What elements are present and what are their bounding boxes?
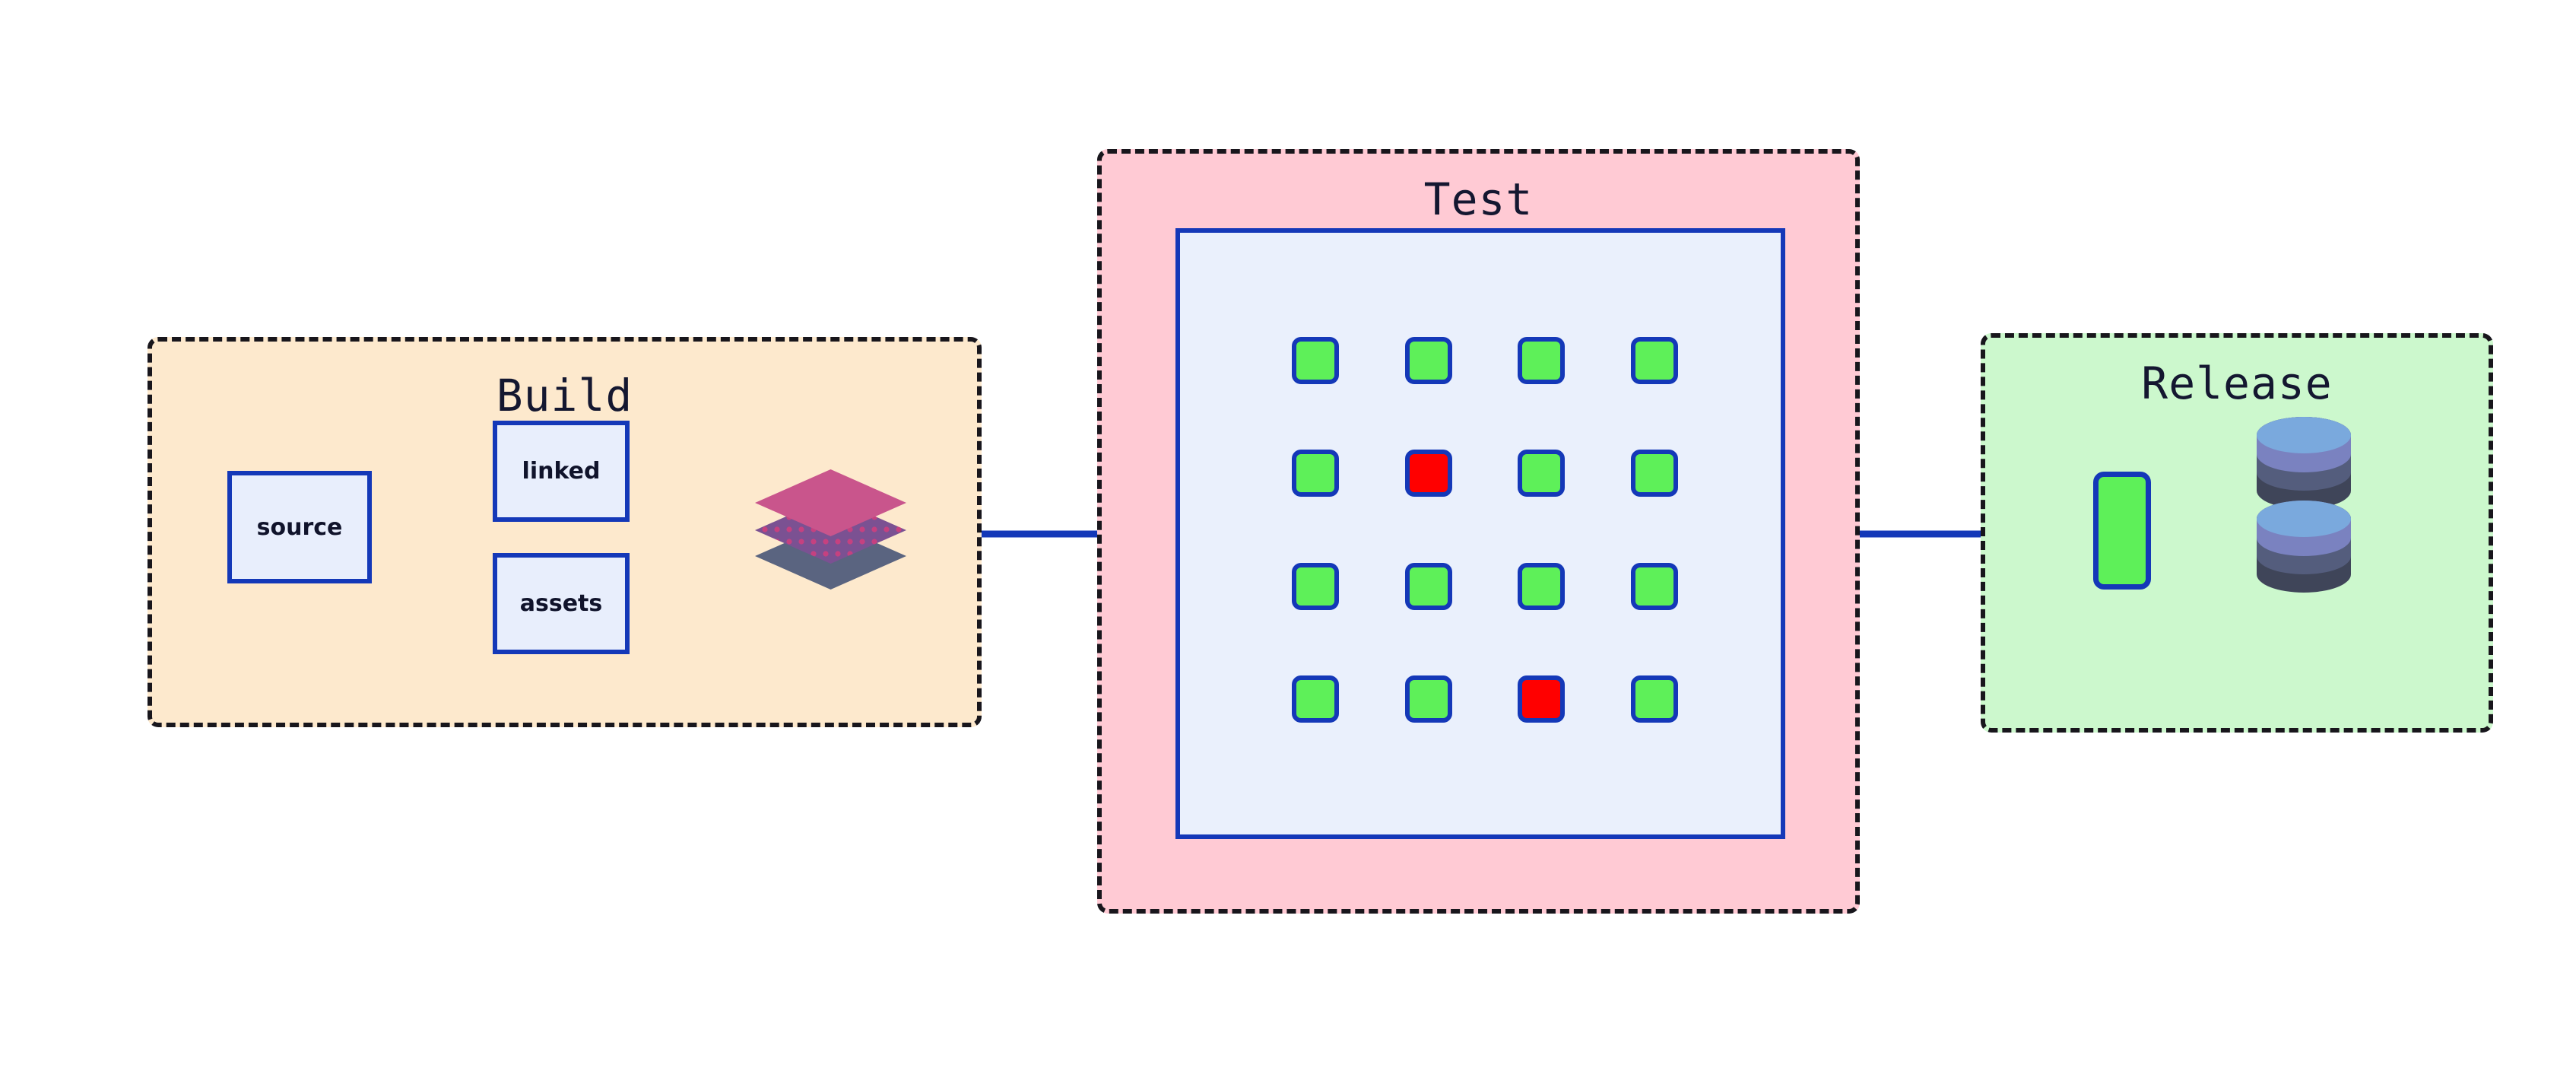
test-case-pass[interactable] <box>1405 563 1452 610</box>
test-grid-cell <box>1372 530 1486 643</box>
test-case-pass[interactable] <box>1292 563 1339 610</box>
test-grid-cell <box>1259 530 1372 643</box>
release-artifact-node[interactable] <box>2093 472 2151 590</box>
node-assets[interactable]: assets <box>493 553 630 654</box>
node-source[interactable]: source <box>227 471 372 583</box>
test-case-pass[interactable] <box>1292 337 1339 384</box>
test-case-pass[interactable] <box>1518 450 1565 497</box>
test-case-pass[interactable] <box>1631 563 1678 610</box>
test-case-pass[interactable] <box>1405 337 1452 384</box>
stage-title-build: Build <box>152 370 977 421</box>
diagram-canvas: Build source linked assets Test Release <box>0 0 2576 1068</box>
test-case-pass[interactable] <box>1292 675 1339 723</box>
test-grid-cell <box>1485 530 1598 643</box>
test-grid-cell <box>1485 304 1598 417</box>
test-grid-cell <box>1259 417 1372 529</box>
test-grid-cell <box>1372 643 1486 755</box>
test-grid-cell <box>1485 643 1598 755</box>
test-case-pass[interactable] <box>1631 450 1678 497</box>
test-grid-cell <box>1598 304 1712 417</box>
database-icon[interactable] <box>2254 498 2353 595</box>
test-case-pass[interactable] <box>1518 337 1565 384</box>
test-grid-cell <box>1485 417 1598 529</box>
test-grid-cell <box>1259 643 1372 755</box>
test-case-pass[interactable] <box>1292 450 1339 497</box>
stage-group-release[interactable]: Release <box>1981 333 2493 733</box>
test-case-fail[interactable] <box>1518 675 1565 723</box>
test-case-pass[interactable] <box>1405 675 1452 723</box>
test-case-pass[interactable] <box>1518 563 1565 610</box>
stage-title-test: Test <box>1102 173 1855 225</box>
test-grid-cell <box>1372 304 1486 417</box>
test-grid-cell <box>1598 530 1712 643</box>
test-case-pass[interactable] <box>1631 675 1678 723</box>
node-assets-label: assets <box>520 590 603 617</box>
test-results-grid <box>1259 304 1711 755</box>
stage-title-release: Release <box>1985 358 2489 409</box>
node-source-label: source <box>257 514 343 541</box>
test-grid-cell <box>1598 643 1712 755</box>
test-grid-cell <box>1598 417 1712 529</box>
test-grid-cell <box>1259 304 1372 417</box>
test-case-fail[interactable] <box>1405 450 1452 497</box>
layers-icon[interactable] <box>749 453 912 616</box>
test-grid-cell <box>1372 417 1486 529</box>
test-case-pass[interactable] <box>1631 337 1678 384</box>
node-linked[interactable]: linked <box>493 421 630 522</box>
test-results-panel <box>1175 228 1785 839</box>
node-linked-label: linked <box>522 458 601 485</box>
database-icon[interactable] <box>2254 415 2353 511</box>
